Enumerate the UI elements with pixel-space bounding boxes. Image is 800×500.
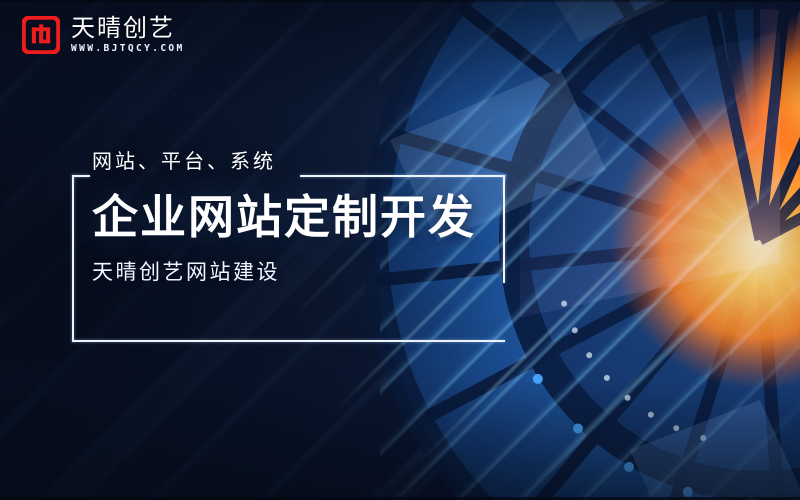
promo-banner: 天晴创艺 WWW.BJTQCY.COM 网站、平台、系统 企业网站定制开发 天晴… [0,0,800,500]
logo-company-name: 天晴创艺 [71,17,185,41]
banner-tagline: 天晴创艺网站建设 [92,262,522,283]
logo-text-block: 天晴创艺 WWW.BJTQCY.COM [71,17,185,54]
banner-copy: 网站、平台、系统 企业网站定制开发 天晴创艺网站建设 [92,152,522,283]
banner-eyebrow: 网站、平台、系统 [92,152,522,172]
logo-mark-icon [22,16,60,54]
brand-logo[interactable]: 天晴创艺 WWW.BJTQCY.COM [22,16,185,54]
banner-headline: 企业网站定制开发 [92,194,522,242]
banner-top-edge [0,0,800,2]
logo-website-url: WWW.BJTQCY.COM [71,44,185,54]
